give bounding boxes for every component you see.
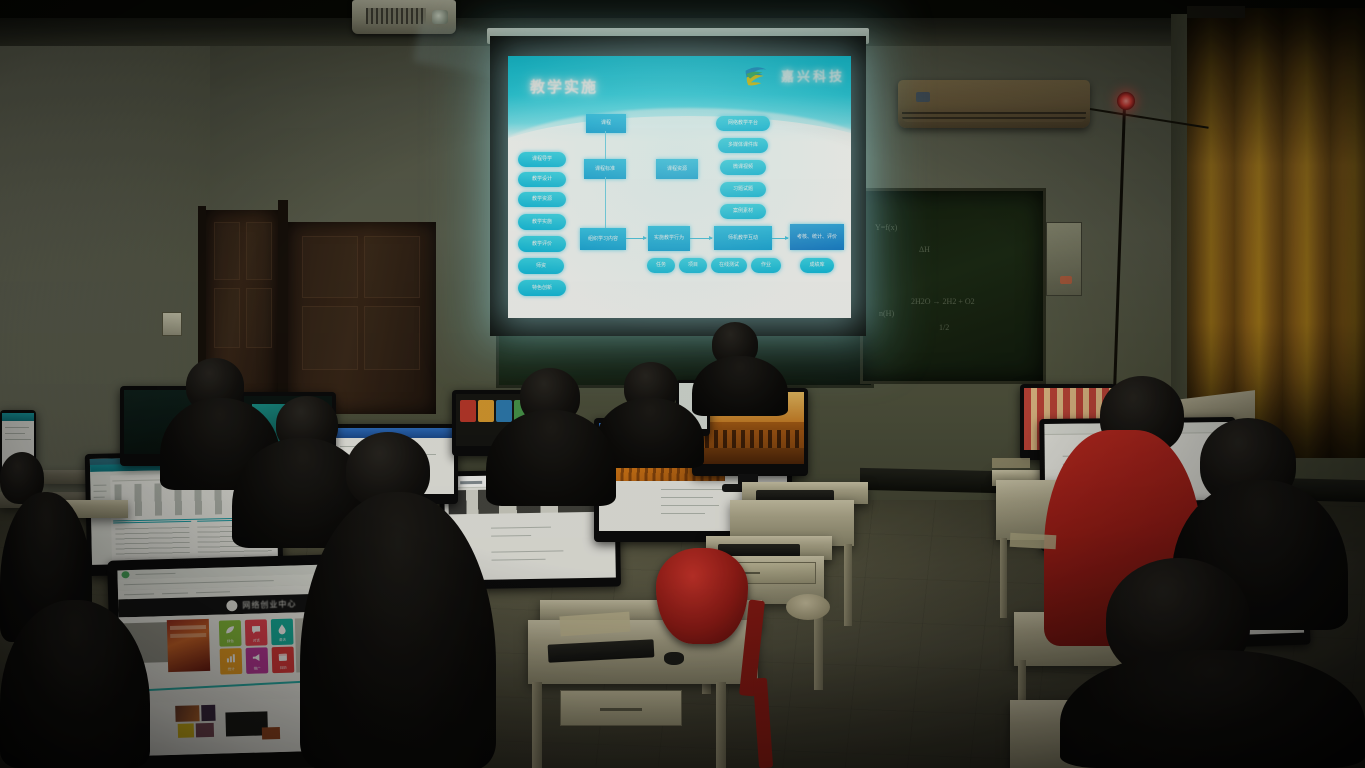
slide-bottom-oval: 项目 (679, 258, 707, 273)
slide-bottom-oval: 任务 (647, 258, 675, 273)
site-brand-text: 网络创业中心 (242, 598, 296, 611)
door-right[interactable] (288, 222, 436, 414)
app-tile-bar-chart[interactable]: 统计 (220, 648, 243, 675)
slide-connector (605, 177, 606, 229)
slide-sidebar-node: 教学设计 (518, 172, 566, 187)
slide-connector (605, 131, 606, 159)
slide-sidebar-node: 课程导学 (518, 152, 566, 167)
slide-node-mid: 课程资源 (656, 159, 698, 179)
air-conditioner-louver (902, 112, 1086, 122)
chalk-note: 1/2 (939, 323, 949, 332)
red-indicator-light-icon (1117, 92, 1135, 110)
slide-right-node: 多媒体课件库 (718, 138, 768, 153)
chalkboard: Y=f(x) ΔH 2H2O → 2H2 + O2 n(H) 1/2 (860, 188, 1046, 384)
browser-logo-icon (121, 571, 129, 578)
drawer-handle[interactable] (600, 708, 642, 711)
curtain-light-glow (1187, 8, 1365, 458)
projector-lens-icon (432, 10, 448, 24)
app-tile-megaphone[interactable]: 推广 (246, 647, 269, 674)
desk-leg (844, 544, 852, 626)
mouse[interactable] (664, 652, 684, 665)
app-tile-calendar[interactable]: 日历 (272, 647, 295, 674)
slide-sidebar-node: 教学实施 (518, 214, 566, 230)
slide-arrow (772, 238, 788, 239)
chalk-note: n(H) (879, 309, 894, 318)
slide-flow-node: 组织学习内容 (580, 228, 626, 250)
wall-panel-led-icon (1060, 276, 1072, 284)
paper-sheet[interactable] (1010, 533, 1057, 549)
slide-flow-node: 师机教学互动 (714, 226, 772, 250)
chalk-note: ΔH (919, 245, 930, 254)
projector-vent-grille (366, 8, 426, 24)
slide-sidebar-node: 教学资源 (518, 192, 566, 207)
list-panel-left (115, 527, 190, 559)
app-tile-label: 对话 (245, 638, 267, 644)
slide-node-mid: 课程标准 (584, 159, 626, 179)
slide-right-node: 习题试题 (720, 182, 766, 197)
app-tile-label: 绿色 (219, 639, 241, 645)
product-thumb[interactable] (175, 705, 199, 722)
light-switch[interactable] (162, 312, 182, 336)
slide-sidebar-node: 师资 (518, 258, 564, 274)
site-logo-icon (226, 600, 237, 611)
slide-flow-node: 考核、统计、评价 (790, 224, 844, 250)
product-thumb[interactable] (196, 723, 214, 737)
slide-right-node: 微课视频 (720, 160, 766, 175)
app-tile-droplet[interactable]: 清洁 (271, 619, 294, 646)
chalk-note: Y=f(x) (875, 223, 897, 232)
app-tile-leaf[interactable]: 绿色 (219, 620, 242, 647)
air-conditioner-badge (916, 92, 930, 102)
slide-bottom-oval: 成绩库 (800, 258, 834, 273)
slide-node-top: 课程 (586, 114, 626, 133)
desk-leg (1000, 538, 1007, 618)
door-frame-mid (278, 200, 288, 406)
slide-right-node: 案例素材 (720, 204, 766, 219)
wall-control-panel[interactable] (1046, 222, 1082, 296)
slide-flow-node: 实施教学行为 (648, 226, 690, 251)
slide-right-node: 网络教学平台 (716, 116, 770, 131)
slide-sidebar-node: 特色创新 (518, 280, 566, 296)
slide-bottom-oval: 作业 (751, 258, 781, 273)
app-tile-label: 日历 (272, 666, 294, 672)
chalk-note: 2H2O → 2H2 + O2 (911, 297, 975, 306)
ceiling (0, 0, 1365, 18)
red-backpack[interactable] (656, 548, 748, 644)
app-tile-speech-bubble[interactable]: 对话 (245, 619, 268, 646)
app-tile-label: 清洁 (271, 638, 293, 644)
slide-sidebar-node: 教学评价 (518, 236, 566, 252)
slide-arrow (626, 238, 646, 239)
app-tile-label: 统计 (220, 667, 242, 673)
swirl-logo-icon (743, 64, 769, 88)
projected-slide: 教学实施 嘉兴科技 课程导学 教学设计 教学资源 教学实施 教学评价 师资 特色… (508, 56, 851, 318)
desk-leg (532, 682, 542, 768)
slide-brand-text: 嘉兴科技 (781, 66, 845, 85)
classroom-scene: Y=f(x) ΔH 2H2O → 2H2 + O2 n(H) 1/2 教学实施 … (0, 0, 1365, 768)
stool[interactable] (786, 594, 830, 620)
product-thumb[interactable] (262, 727, 280, 739)
desk-leg (716, 682, 726, 768)
curtain-rod (1187, 6, 1245, 18)
product-thumb[interactable] (178, 723, 194, 737)
book-stack[interactable] (992, 458, 1030, 468)
slide-arrow (690, 238, 712, 239)
hero-product-image (167, 619, 210, 672)
slide-bottom-oval: 在线测试 (711, 258, 747, 273)
slide-title: 教学实施 (530, 76, 598, 97)
product-thumb[interactable] (201, 705, 215, 721)
app-tile-label: 推广 (246, 666, 268, 672)
